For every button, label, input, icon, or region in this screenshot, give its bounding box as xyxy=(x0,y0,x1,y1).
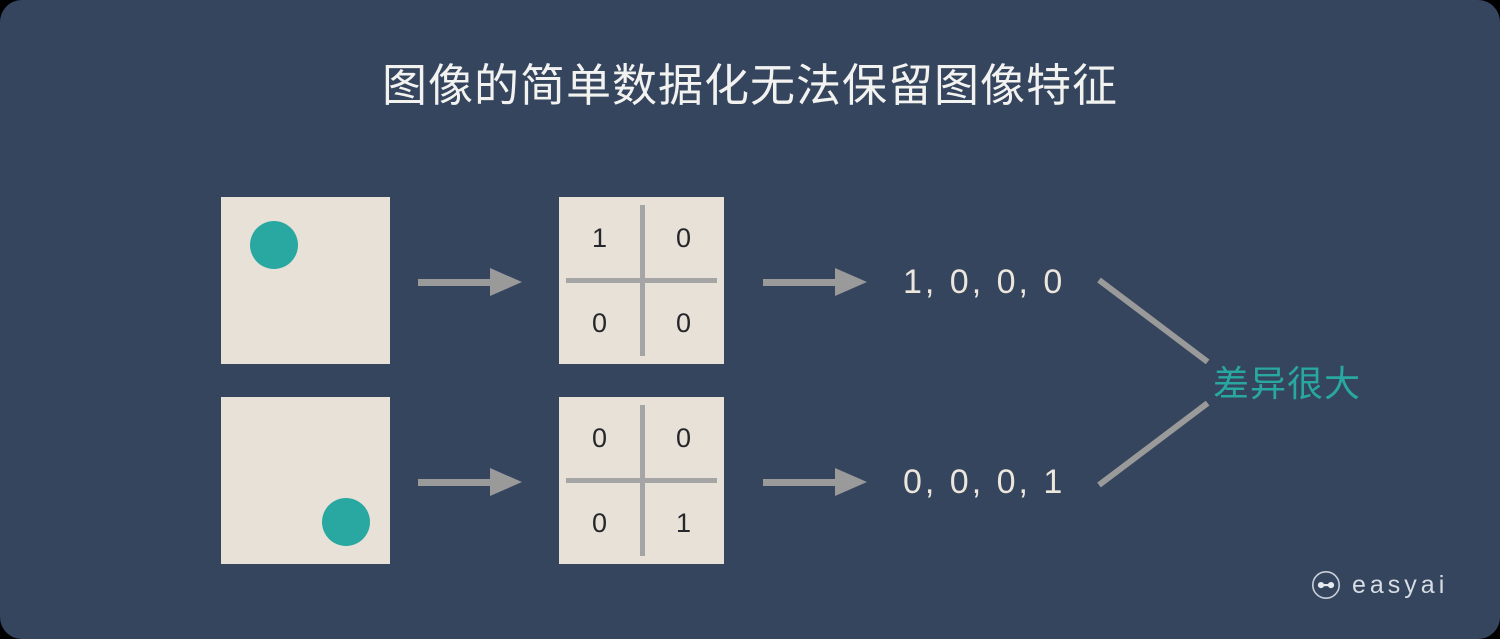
arrow-head-icon xyxy=(490,468,522,496)
easyai-circle-dots-icon xyxy=(1311,570,1341,600)
arrow-panel-to-matrix-top xyxy=(418,268,522,296)
diagram-canvas: 图像的简单数据化无法保留图像特征 1 0 0 0 1, 0, 0, 0 0 0 … xyxy=(0,0,1500,639)
difference-annotation: 差异很大 xyxy=(1213,355,1361,407)
image-panel-bottom xyxy=(221,397,390,564)
matrix-cell: 0 xyxy=(559,482,640,564)
matrix-bottom: 0 0 0 1 xyxy=(559,397,724,564)
connector-line-top xyxy=(1097,278,1209,365)
sequence-bottom: 0, 0, 0, 1 xyxy=(903,463,1065,502)
matrix-cell: 0 xyxy=(643,397,724,479)
arrow-head-icon xyxy=(835,468,867,496)
matrix-cell: 0 xyxy=(643,197,724,279)
page-title: 图像的简单数据化无法保留图像特征 xyxy=(0,56,1500,116)
matrix-horizontal-divider xyxy=(566,478,717,483)
matrix-cell: 1 xyxy=(559,197,640,279)
arrow-panel-to-matrix-bottom xyxy=(418,468,522,496)
matrix-cell: 0 xyxy=(643,282,724,364)
easyai-logo: easyai xyxy=(1311,570,1448,600)
arrow-matrix-to-sequence-bottom xyxy=(763,468,867,496)
matrix-cell: 1 xyxy=(643,482,724,564)
arrow-shaft xyxy=(418,479,496,486)
matrix-cell: 0 xyxy=(559,397,640,479)
teal-circle-top-left xyxy=(250,221,298,269)
easyai-wordmark: easyai xyxy=(1352,570,1448,600)
matrix-cell: 0 xyxy=(559,282,640,364)
arrow-head-icon xyxy=(490,268,522,296)
arrow-shaft xyxy=(418,279,496,286)
arrow-shaft xyxy=(763,479,841,486)
teal-circle-bottom-right xyxy=(322,498,370,546)
image-panel-top xyxy=(221,197,390,364)
matrix-top: 1 0 0 0 xyxy=(559,197,724,364)
sequence-top: 1, 0, 0, 0 xyxy=(903,263,1065,302)
arrow-shaft xyxy=(763,279,841,286)
matrix-horizontal-divider xyxy=(566,278,717,283)
connector-line-bottom xyxy=(1097,401,1209,488)
arrow-matrix-to-sequence-top xyxy=(763,268,867,296)
arrow-head-icon xyxy=(835,268,867,296)
